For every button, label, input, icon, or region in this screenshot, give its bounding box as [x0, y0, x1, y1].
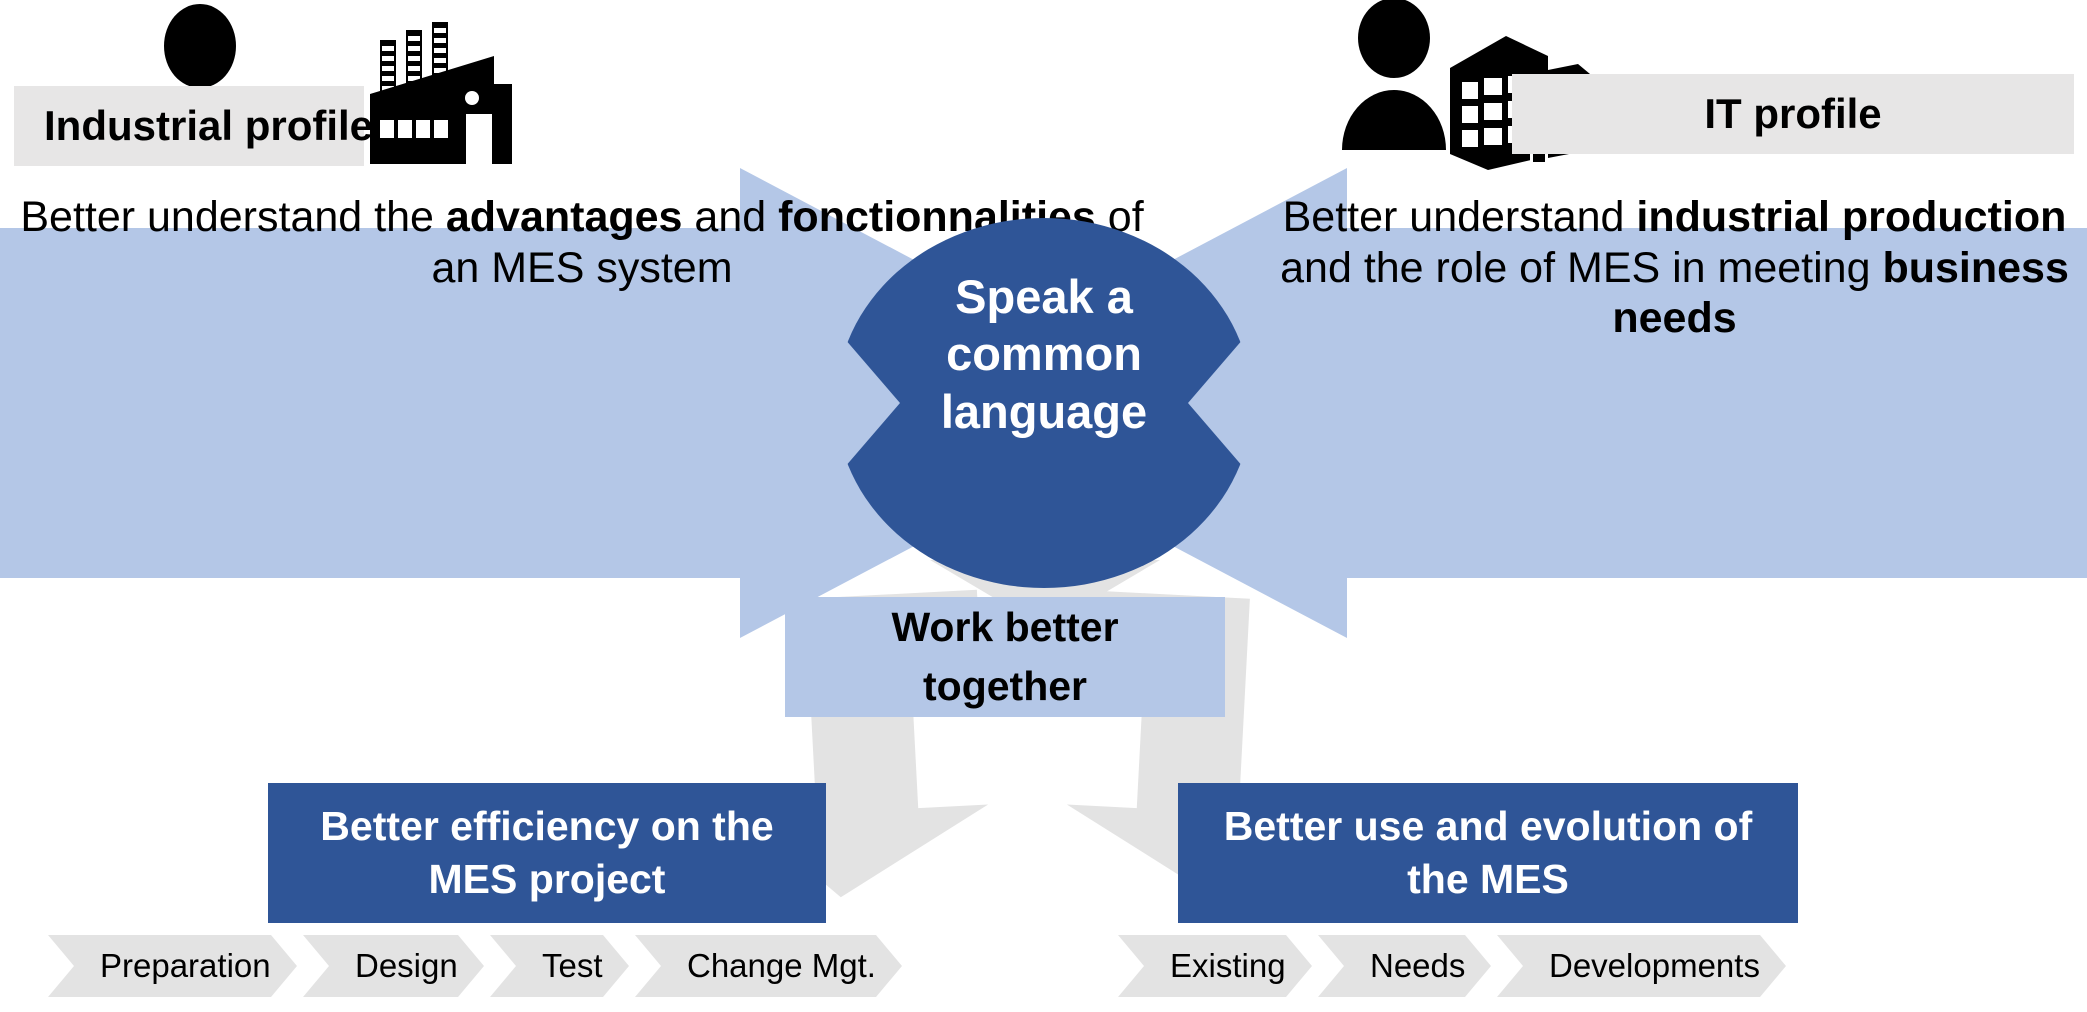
chevron-label[interactable]: Preparation [100, 947, 271, 985]
work-better-together-label: Work bettertogether [891, 598, 1118, 717]
factory-icon [368, 22, 516, 175]
it-profile-label: IT profile [1512, 74, 2074, 154]
right-stage-chevrons: ExistingNeedsDevelopments [1118, 935, 1792, 997]
center-circle [836, 218, 1252, 588]
chevron-label[interactable]: Design [355, 947, 458, 985]
outcome-box-right: Better use and evolution of the MES [1178, 783, 1798, 923]
it-statement: Better understand industrial production … [1277, 192, 2072, 344]
chevron-label[interactable]: Existing [1170, 947, 1286, 985]
outcome-left-label: Better efficiency on the MES project [268, 800, 826, 907]
industrial-profile-label: Industrial profile [14, 86, 364, 166]
it-profile-label-text: IT profile [1704, 90, 1881, 138]
left-stage-chevrons: PreparationDesignTestChange Mgt. [48, 935, 908, 997]
outcome-box-left: Better efficiency on the MES project [268, 783, 826, 923]
chevron-label[interactable]: Change Mgt. [687, 947, 876, 985]
outcome-right-label: Better use and evolution of the MES [1178, 800, 1798, 907]
work-better-together-box: Work bettertogether [785, 597, 1225, 717]
person-icon [1338, 0, 1450, 155]
chevron-label[interactable]: Developments [1549, 947, 1760, 985]
chevron-label[interactable]: Needs [1370, 947, 1465, 985]
industrial-profile-label-text: Industrial profile [44, 102, 373, 150]
chevron-label[interactable]: Test [542, 947, 603, 985]
diagram-canvas: Industrial profile IT profile Better und… [0, 0, 2087, 1012]
